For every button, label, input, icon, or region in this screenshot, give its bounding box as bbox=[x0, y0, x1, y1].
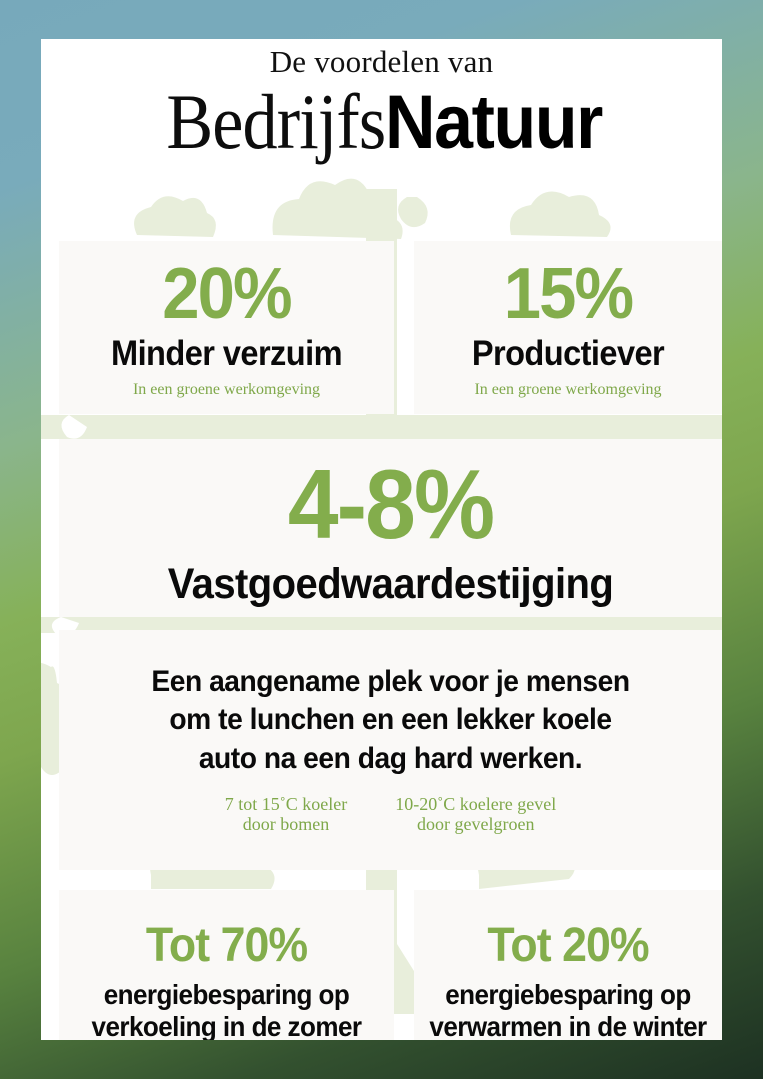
temperature-fact-facade: 10-20˚C koelere gevel door gevelgroen bbox=[395, 794, 556, 834]
temperature-fact-trees-line-2: door bomen bbox=[225, 814, 347, 834]
stat-caption-productiever: In een groene werkomgeving bbox=[414, 381, 722, 399]
stat-headline-koeling-line-2: verkoeling in de zomer bbox=[71, 1011, 383, 1040]
stat-value-vastgoed: 4-8% bbox=[82, 455, 699, 553]
stat-headline-vastgoed: Vastgoedwaardestijging bbox=[82, 563, 699, 607]
stat-card-koeling: Tot 70% energiebesparing op verkoeling i… bbox=[59, 890, 394, 1040]
stat-card-productiever: 15% Productiever In een groene werkomgev… bbox=[414, 241, 722, 414]
temperature-facts: 7 tot 15˚C koeler door bomen 10-20˚C koe… bbox=[59, 794, 722, 834]
stat-headline-productiever: Productiever bbox=[425, 336, 711, 372]
temperature-fact-trees: 7 tot 15˚C koeler door bomen bbox=[225, 794, 347, 834]
comfort-lead-line-1: Een aangename plek voor je mensen bbox=[79, 663, 702, 701]
poster-canvas: De voordelen van BedrijfsNatuur 20% Mind… bbox=[41, 39, 722, 1040]
wordmark-sans-part: Natuur bbox=[385, 85, 602, 161]
stat-value-verzuim: 20% bbox=[71, 258, 383, 330]
comfort-lead-line-3: auto na een dag hard werken. bbox=[79, 740, 702, 778]
stat-card-vastgoed: 4-8% Vastgoedwaardestijging bbox=[59, 439, 722, 617]
comfort-card: Een aangename plek voor je mensen om te … bbox=[59, 630, 722, 870]
stat-value-koeling: Tot 70% bbox=[71, 922, 383, 970]
stat-headline-koeling-line-1: energiebesparing op bbox=[71, 979, 383, 1011]
temperature-fact-trees-line-1: 7 tot 15˚C koeler bbox=[225, 794, 347, 814]
stat-value-verwarming: Tot 20% bbox=[425, 922, 711, 970]
stat-card-verzuim: 20% Minder verzuim In een groene werkomg… bbox=[59, 241, 394, 414]
title-kicker: De voordelen van bbox=[41, 45, 722, 79]
wordmark: BedrijfsNatuur bbox=[41, 83, 722, 161]
temperature-fact-facade-line-1: 10-20˚C koelere gevel bbox=[395, 794, 556, 814]
stat-headline-verwarming: energiebesparing op verwarmen in de wint… bbox=[425, 979, 711, 1040]
poster-frame: De voordelen van BedrijfsNatuur 20% Mind… bbox=[0, 0, 763, 1079]
wordmark-serif-part: Bedrijfs bbox=[166, 83, 385, 161]
stat-headline-verwarming-line-2: verwarmen in de winter bbox=[425, 1011, 711, 1040]
page-title: De voordelen van BedrijfsNatuur bbox=[41, 45, 722, 161]
stat-headline-verwarming-line-1: energiebesparing op bbox=[425, 979, 711, 1011]
stat-value-productiever: 15% bbox=[425, 258, 711, 330]
stat-caption-verzuim: In een groene werkomgeving bbox=[59, 381, 394, 399]
stat-headline-koeling: energiebesparing op verkoeling in de zom… bbox=[71, 979, 383, 1040]
stat-card-verwarming: Tot 20% energiebesparing op verwarmen in… bbox=[414, 890, 722, 1040]
temperature-fact-facade-line-2: door gevelgroen bbox=[395, 814, 556, 834]
comfort-lead: Een aangename plek voor je mensen om te … bbox=[79, 663, 702, 778]
stat-headline-verzuim: Minder verzuim bbox=[71, 336, 383, 372]
comfort-lead-line-2: om te lunchen en een lekker koele bbox=[79, 701, 702, 739]
